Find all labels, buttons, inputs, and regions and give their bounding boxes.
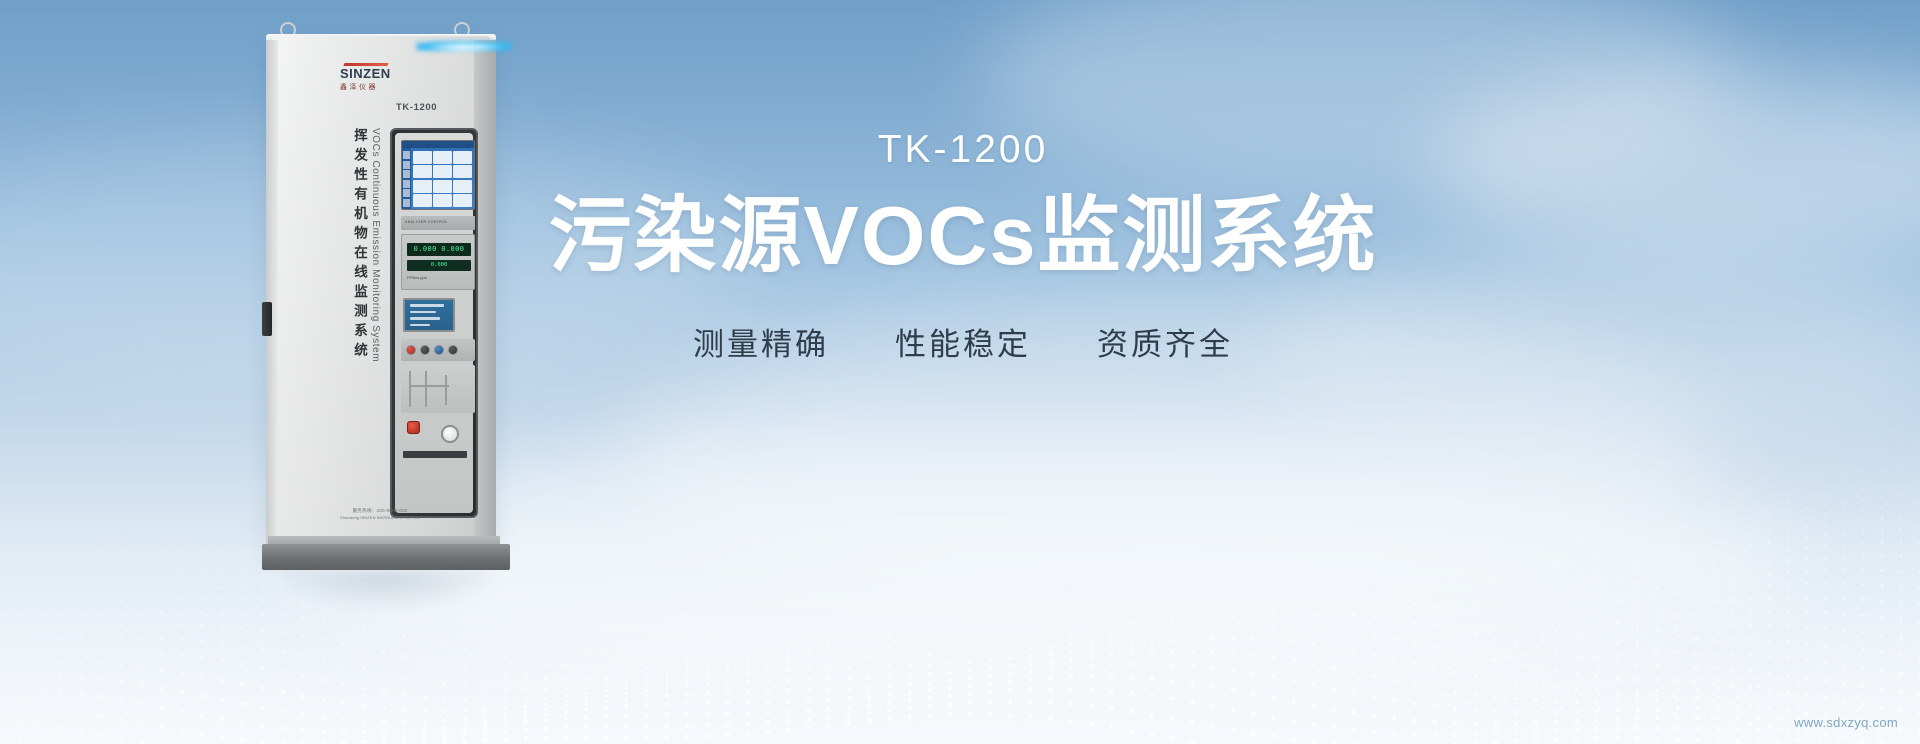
floor-reflection <box>272 572 502 612</box>
emergency-stop-button[interactable] <box>407 421 420 434</box>
site-watermark: www.sdxzyq.com <box>1794 715 1898 730</box>
cabinet-vertical-text-cn: 挥发性有机物在线监测系统 <box>346 128 366 362</box>
module-faceplate-label: ANALYZER CONTROL <box>401 216 475 224</box>
status-light-strip <box>416 41 512 51</box>
cabinet-footer-plate: 服务热线：400-0000-000 Shandong SINZEN INSTRU… <box>300 508 460 520</box>
hmi-readout-grid <box>413 151 472 207</box>
brand-name-cn: 鑫泽仪器 <box>340 82 426 92</box>
analyzer-secondary-readout: 0.000 <box>407 260 471 271</box>
banner-eyebrow-model: TK-1200 <box>548 130 1378 169</box>
banner-copy-block: TK-1200 污染源VOCs监测系统 测量精确 性能稳定 资质齐全 <box>548 130 1378 364</box>
hmi-touchscreen <box>401 140 475 210</box>
cabinet-model-label: TK-1200 <box>396 102 437 113</box>
mode-knob-icon <box>434 345 444 355</box>
feature-item-1: 测量精确 <box>693 319 829 364</box>
hmi-menu-list <box>403 151 410 207</box>
cabinet-plinth <box>262 544 510 570</box>
analyzer-primary-readout: 0.000 0.000 0.000 <box>407 243 471 256</box>
banner-feature-list: 测量精确 性能稳定 资质齐全 <box>548 319 1378 364</box>
product-banner: SINZEN 鑫泽仪器 TK-1200 挥发性有机物在线监测系统 VOCs Co… <box>0 0 1920 744</box>
controller-lcd <box>403 298 455 332</box>
dot-mesh-right-decoration <box>920 404 1920 744</box>
feature-item-3: 资质齐全 <box>1097 319 1233 364</box>
door-interior: ANALYZER CONTROL 0.000 0.000 0.000 0.000… <box>395 133 473 513</box>
feature-item-2: 性能稳定 <box>895 319 1031 364</box>
cloud-haze <box>1430 70 1920 260</box>
cabinet-vertical-text-en: VOCs Continuous Emission Monitoring Syst… <box>370 128 381 362</box>
control-knob-row <box>401 339 475 361</box>
door-handle[interactable] <box>262 302 272 336</box>
hmi-titlebar <box>402 141 474 148</box>
analyzer-unit-label: PPBvs ppb <box>407 275 427 280</box>
plumbing-manifold <box>401 365 475 413</box>
module-faceplate: ANALYZER CONTROL <box>401 216 475 230</box>
banner-headline: 污染源VOCs监测系统 <box>548 191 1378 281</box>
pressure-gauge-icon <box>441 425 459 443</box>
selector-knob-icon <box>420 345 430 355</box>
analyzer-module: 0.000 0.000 0.000 0.000 PPBvs ppb <box>401 234 475 290</box>
product-image-cabinet: SINZEN 鑫泽仪器 TK-1200 挥发性有机物在线监测系统 VOCs Co… <box>258 16 518 572</box>
bottom-label-plate <box>403 451 467 458</box>
brand-name: SINZEN <box>340 67 426 80</box>
service-hotline-text: 服务热线：400-0000-000 <box>300 508 460 514</box>
logo-accent-bar <box>343 63 388 66</box>
company-name-text: Shandong SINZEN INSTRUMENT Co., Ltd <box>300 515 460 520</box>
valve-knob-icon <box>448 345 458 355</box>
brand-logo: SINZEN 鑫泽仪器 <box>340 63 426 92</box>
cloud-haze <box>300 430 1800 690</box>
power-knob-icon <box>406 345 416 355</box>
cabinet-left-edge <box>266 40 278 544</box>
cabinet-door-window: ANALYZER CONTROL 0.000 0.000 0.000 0.000… <box>390 128 478 518</box>
